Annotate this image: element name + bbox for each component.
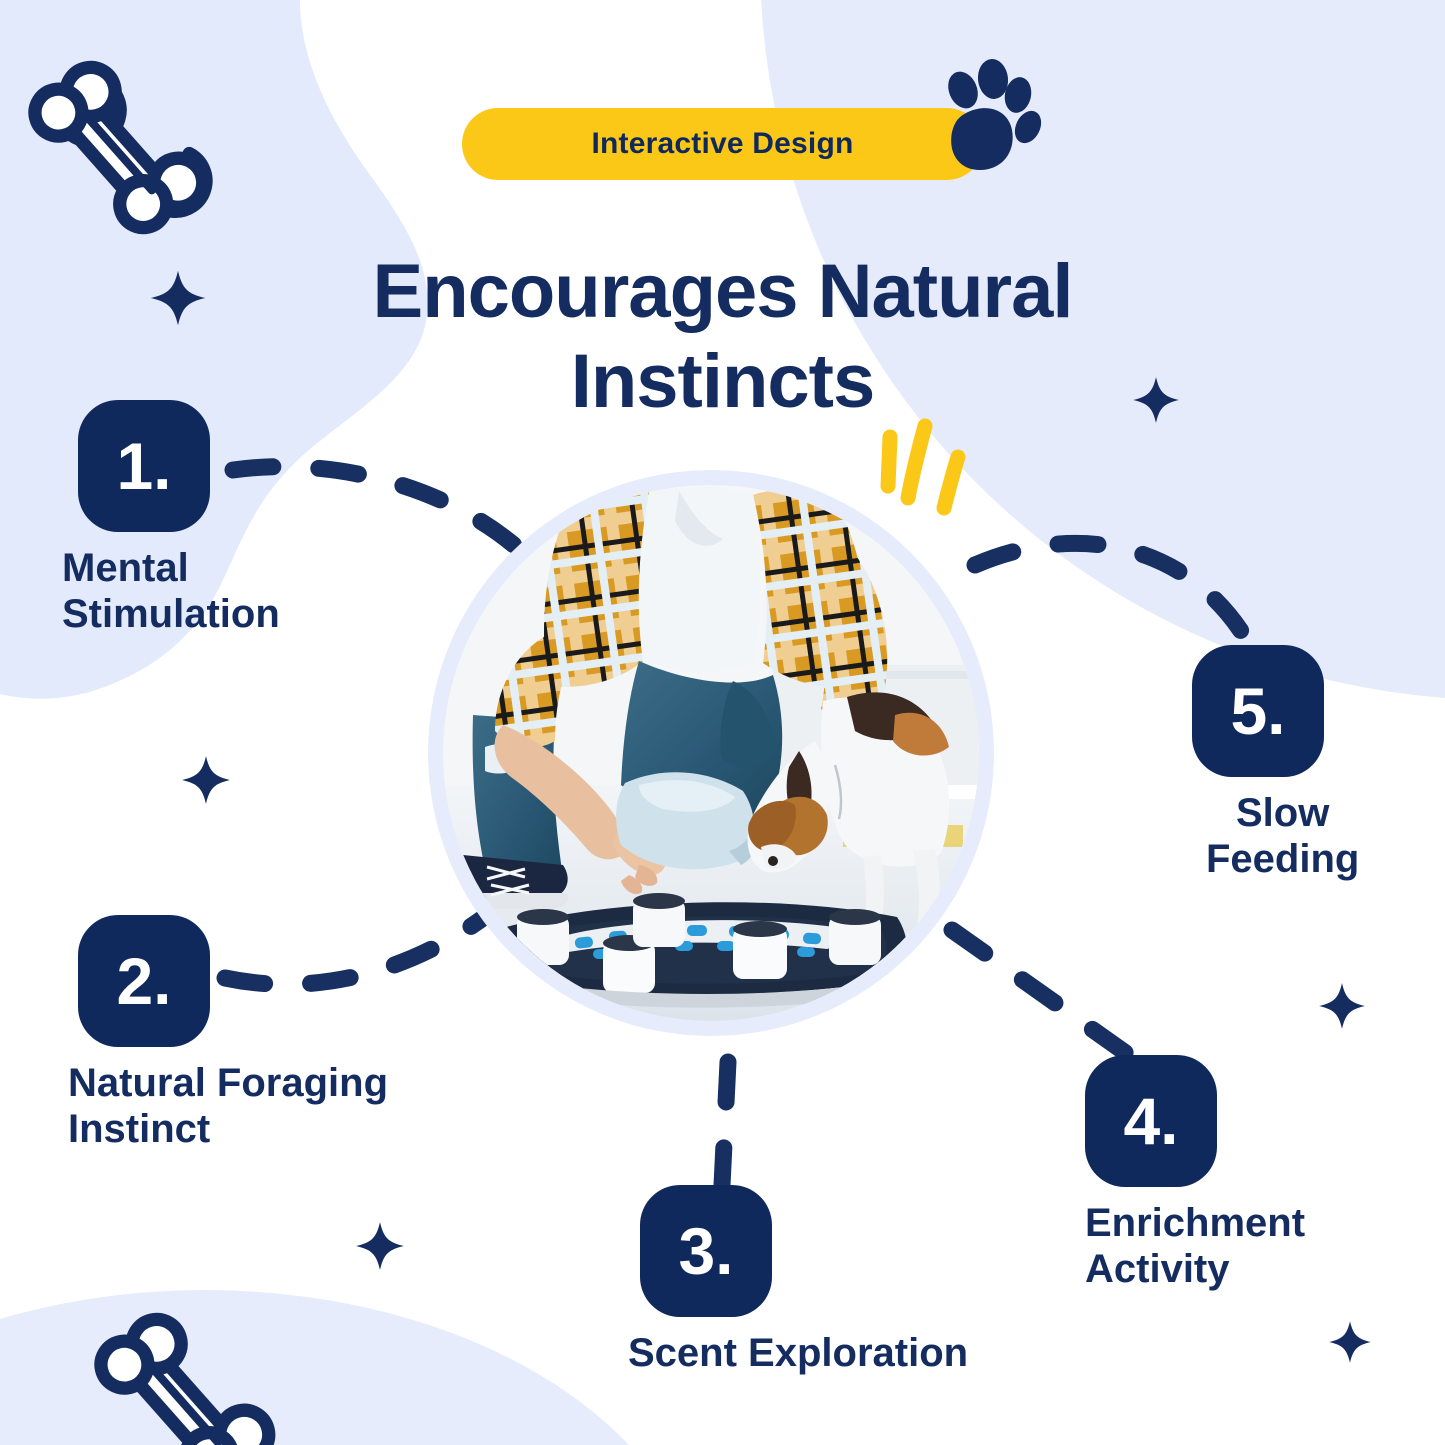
step-label-2: Natural Foraging Instinct [68, 1061, 388, 1152]
photo-illustration [443, 485, 979, 1021]
step-number-2: 2. [78, 915, 210, 1047]
infographic-canvas: Interactive Design Encourages Natural In… [0, 0, 1445, 1445]
step-number-5: 5. [1192, 645, 1324, 777]
category-badge: Interactive Design [462, 108, 983, 180]
step-item-5[interactable]: 5. Slow Feeding [1192, 645, 1359, 882]
product-photo [443, 485, 979, 1021]
step-label-5: Slow Feeding [1206, 791, 1359, 882]
step-item-4[interactable]: 4. Enrichment Activity [1085, 1055, 1305, 1292]
step-label-1: Mental Stimulation [62, 546, 280, 637]
step-number-3: 3. [640, 1185, 772, 1317]
badge-label: Interactive Design [591, 127, 853, 161]
step-number-4: 4. [1085, 1055, 1217, 1187]
step-item-1[interactable]: 1. Mental Stimulation [78, 400, 280, 637]
step-label-3: Scent Exploration [628, 1331, 968, 1377]
title-line-1: Encourages Natural [0, 247, 1445, 337]
step-item-2[interactable]: 2. Natural Foraging Instinct [78, 915, 388, 1152]
step-item-3[interactable]: 3. Scent Exploration [640, 1185, 968, 1377]
step-label-4: Enrichment Activity [1085, 1201, 1305, 1292]
step-number-1: 1. [78, 400, 210, 532]
